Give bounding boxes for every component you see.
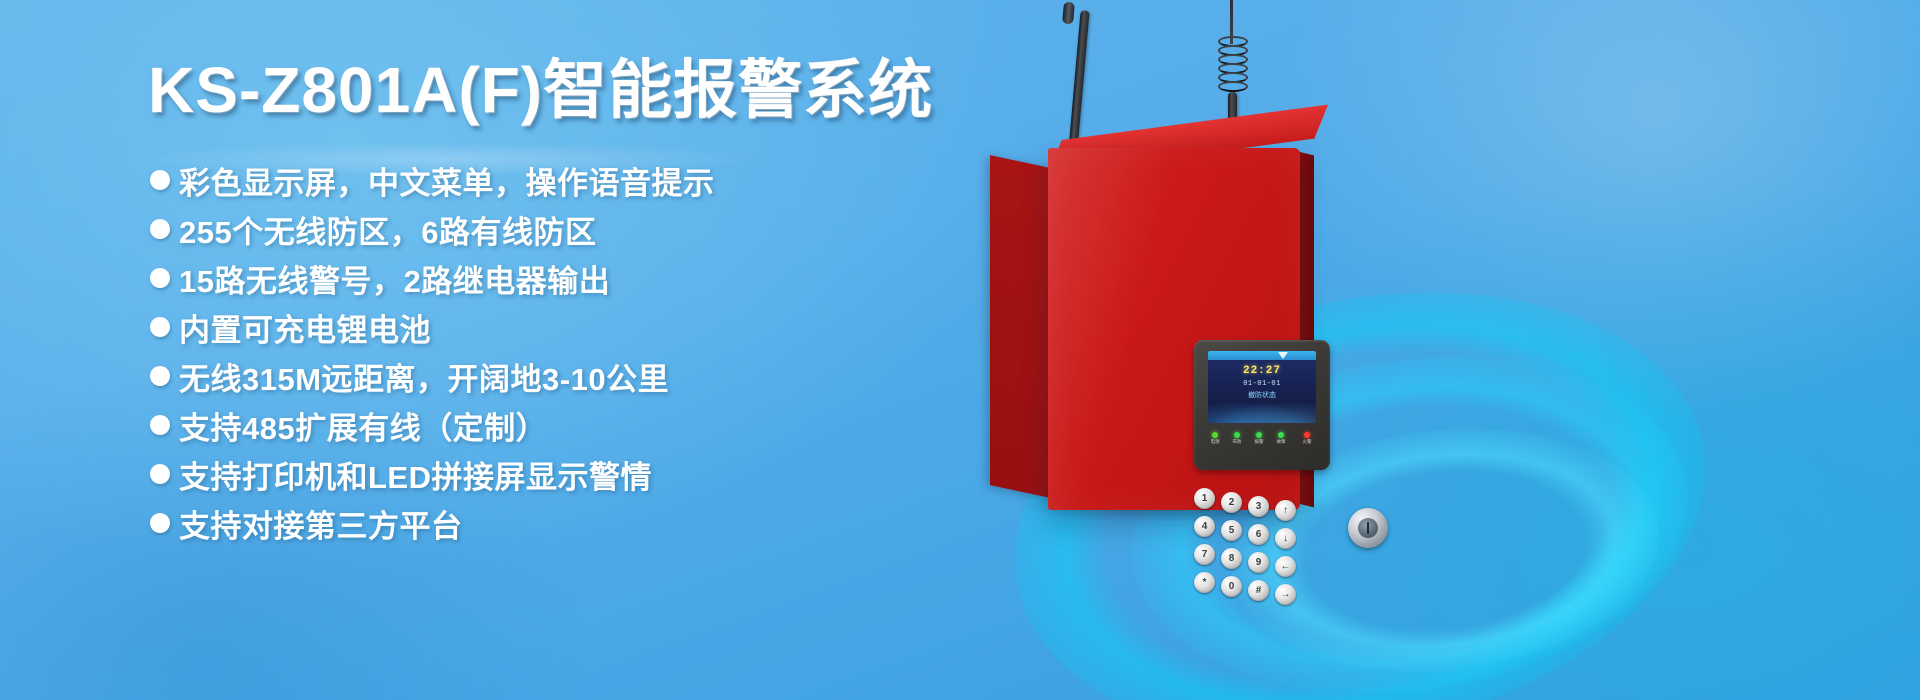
- key-button[interactable]: 6: [1248, 524, 1269, 545]
- signal-icon: [1278, 352, 1288, 359]
- feature-label: 彩色显示屏，中文菜单，操作语音提示: [179, 158, 715, 203]
- led-fault: [1278, 432, 1284, 438]
- feature-item: 255个无线防区，6路有线防区: [150, 205, 715, 253]
- feature-item: 彩色显示屏，中文菜单，操作语音提示: [150, 156, 715, 204]
- key-button[interactable]: ↑: [1275, 500, 1296, 521]
- lcd-time: 22:27: [1208, 365, 1316, 377]
- lcd-screen[interactable]: 22:27 01-01-01 撤防状态: [1208, 351, 1316, 423]
- feature-label: 支持打印机和LED拼接屏显示警情: [179, 452, 652, 497]
- led-arm: [1234, 432, 1240, 438]
- feature-label: 支持对接第三方平台: [179, 501, 463, 546]
- feature-label: 支持485扩展有线（定制）: [179, 403, 547, 448]
- led-power: [1212, 432, 1218, 438]
- lcd-date: 01-01-01: [1208, 380, 1316, 388]
- key-button[interactable]: 4: [1194, 516, 1215, 537]
- feature-item: 支持对接第三方平台: [150, 499, 715, 547]
- feature-item: 支持485扩展有线（定制）: [150, 401, 715, 449]
- bullet-icon: [150, 219, 170, 239]
- content-panel: KS-Z801A(F)智能报警系统 彩色显示屏，中文菜单，操作语音提示 255个…: [0, 0, 980, 700]
- key-button[interactable]: →: [1275, 584, 1296, 605]
- key-button[interactable]: 0: [1221, 576, 1242, 597]
- bullet-icon: [150, 415, 170, 435]
- key-lock-switch[interactable]: [1348, 508, 1388, 548]
- led-fault-label: 故障: [1277, 439, 1286, 445]
- key-button[interactable]: 9: [1248, 552, 1269, 573]
- key-button[interactable]: 5: [1221, 520, 1242, 541]
- feature-item: 支持打印机和LED拼接屏显示警情: [150, 450, 715, 498]
- led-power-label: 电源: [1211, 439, 1220, 445]
- lcd-status-bar: [1208, 351, 1316, 360]
- feature-label: 15路无线警号，2路继电器输出: [179, 256, 610, 301]
- bullet-icon: [150, 464, 170, 484]
- key-button[interactable]: ↓: [1275, 528, 1296, 549]
- led-alarm-label: 报警: [1255, 439, 1264, 445]
- indicator-led-row: 电源 布防 报警 故障 火警: [1210, 432, 1316, 446]
- feature-label: 无线315M远距离，开阔地3-10公里: [179, 354, 669, 399]
- led-alarm: [1256, 432, 1262, 438]
- bullet-icon: [150, 366, 170, 386]
- product-banner: KS-Z801A(F)智能报警系统 彩色显示屏，中文菜单，操作语音提示 255个…: [0, 0, 1920, 700]
- feature-item: 内置可充电锂电池: [150, 303, 715, 351]
- lcd-wave-graphic: [1208, 401, 1316, 423]
- product-title: KS-Z801A(F)智能报警系统: [148, 54, 933, 128]
- display-bezel: 22:27 01-01-01 撤防状态 电源 布防 报警 故障: [1194, 340, 1330, 470]
- key-button[interactable]: 1: [1194, 488, 1215, 509]
- lcd-status-text: 撤防状态: [1208, 390, 1316, 400]
- key-button[interactable]: ←: [1275, 556, 1296, 577]
- feature-label: 内置可充电锂电池: [179, 305, 431, 350]
- bullet-icon: [150, 170, 170, 190]
- cabinet-front-face: 22:27 01-01-01 撤防状态 电源 布防 报警 故障: [1048, 148, 1300, 510]
- key-lock-core-icon: [1358, 518, 1378, 538]
- feature-list: 彩色显示屏，中文菜单，操作语音提示 255个无线防区，6路有线防区 15路无线警…: [150, 156, 715, 548]
- feature-label: 255个无线防区，6路有线防区: [179, 207, 596, 252]
- keypad[interactable]: 1 2 3 ↑ 4 5 6 ↓ 7 8 9 ← * 0 # →: [1194, 488, 1322, 614]
- feature-item: 无线315M远距离，开阔地3-10公里: [150, 352, 715, 400]
- bullet-icon: [150, 317, 170, 337]
- key-button[interactable]: #: [1248, 580, 1269, 601]
- key-button[interactable]: 3: [1248, 496, 1269, 517]
- antenna-coil-icon: [1218, 36, 1244, 98]
- led-arm-label: 布防: [1233, 439, 1242, 445]
- bullet-icon: [150, 513, 170, 533]
- antenna-left-tip-icon: [1062, 2, 1075, 25]
- key-button[interactable]: *: [1194, 572, 1215, 593]
- key-button[interactable]: 2: [1221, 492, 1242, 513]
- key-button[interactable]: 7: [1194, 544, 1215, 565]
- bullet-icon: [150, 268, 170, 288]
- led-fire-label: 火警: [1303, 439, 1312, 445]
- led-fire: [1304, 432, 1310, 438]
- feature-item: 15路无线警号，2路继电器输出: [150, 254, 715, 302]
- lcd-body: 22:27 01-01-01 撤防状态: [1208, 360, 1316, 423]
- alarm-control-panel: 22:27 01-01-01 撤防状态 电源 布防 报警 故障: [930, 0, 1920, 700]
- key-button[interactable]: 8: [1221, 548, 1242, 569]
